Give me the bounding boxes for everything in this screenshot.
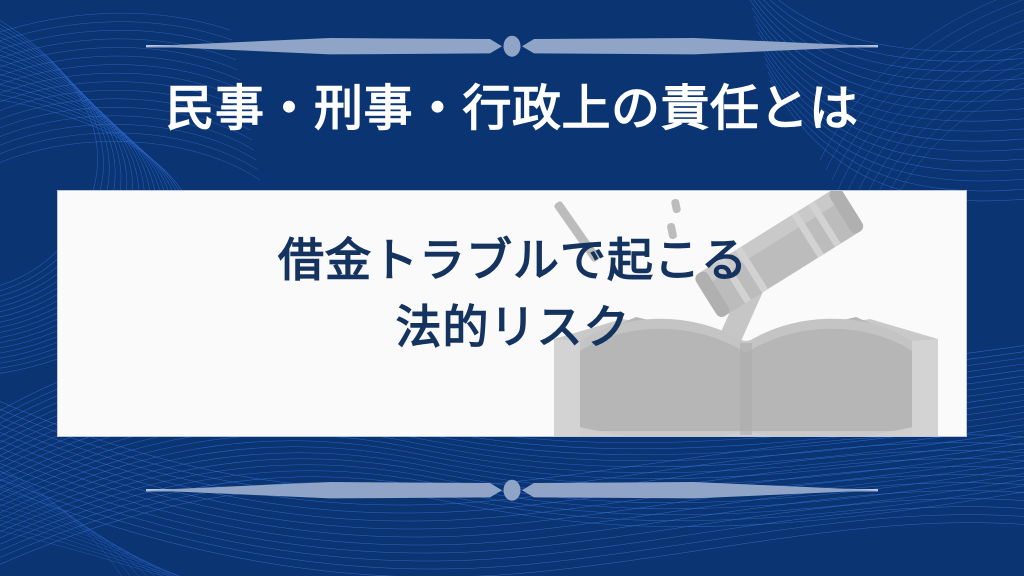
card-heading-line-2: 法的リスク <box>58 294 967 361</box>
content-card: 借金トラブルで起こる 法的リスク <box>57 190 967 437</box>
slide-canvas: 民事・刑事・行政上の責任とは <box>0 0 1024 576</box>
divider-right-arrow <box>522 38 878 54</box>
divider-center-dot <box>504 36 521 57</box>
divider-left-arrow-bottom <box>146 482 502 498</box>
top-divider-ornament <box>0 26 1024 66</box>
bottom-divider-ornament <box>0 470 1024 510</box>
page-title: 民事・刑事・行政上の責任とは <box>0 82 1024 137</box>
divider-right-arrow-bottom <box>522 482 878 498</box>
card-heading: 借金トラブルで起こる 法的リスク <box>58 227 967 360</box>
divider-left-arrow <box>146 38 502 54</box>
card-heading-line-1: 借金トラブルで起こる <box>58 227 967 294</box>
divider-center-dot-bottom <box>504 480 521 501</box>
